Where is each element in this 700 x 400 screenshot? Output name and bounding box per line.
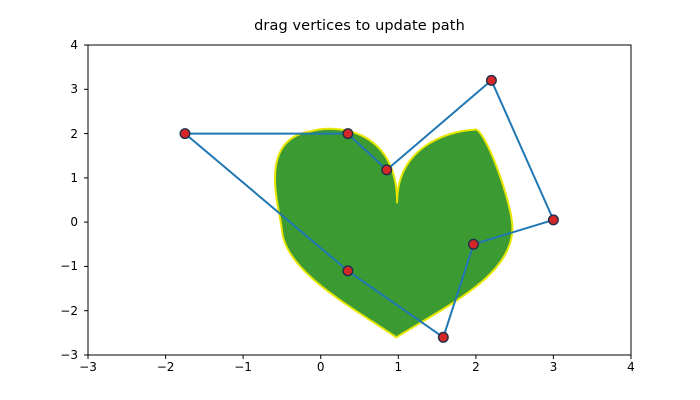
vertex-marker[interactable]: [343, 266, 353, 276]
x-tick-label: 2: [472, 360, 480, 374]
y-axis-ticks: [84, 45, 88, 355]
y-tick-label: 3: [58, 82, 78, 96]
x-tick-label: 3: [550, 360, 558, 374]
y-tick-label: 0: [58, 215, 78, 229]
vertex-marker[interactable]: [469, 240, 479, 250]
y-tick-label: −1: [58, 259, 78, 273]
vertex-marker[interactable]: [439, 333, 449, 343]
y-tick-label: 4: [58, 38, 78, 52]
x-tick-label: 1: [394, 360, 402, 374]
x-tick-label: −3: [79, 360, 97, 374]
vertex-marker[interactable]: [382, 165, 392, 175]
matplotlib-figure: drag vertices to update path: [0, 0, 700, 400]
x-tick-label: −2: [157, 360, 175, 374]
vertex-marker[interactable]: [549, 215, 559, 225]
x-tick-label: −1: [234, 360, 252, 374]
y-tick-label: −2: [58, 304, 78, 318]
y-tick-label: 2: [58, 127, 78, 141]
y-tick-label: −3: [58, 348, 78, 362]
vertex-marker[interactable]: [180, 129, 190, 139]
vertex-marker[interactable]: [343, 129, 353, 139]
plot-canvas[interactable]: [0, 0, 700, 400]
x-tick-label: 4: [627, 360, 635, 374]
x-axis-ticks: [88, 355, 631, 359]
y-tick-label: 1: [58, 171, 78, 185]
vertex-marker[interactable]: [487, 76, 497, 86]
x-tick-label: 0: [317, 360, 325, 374]
